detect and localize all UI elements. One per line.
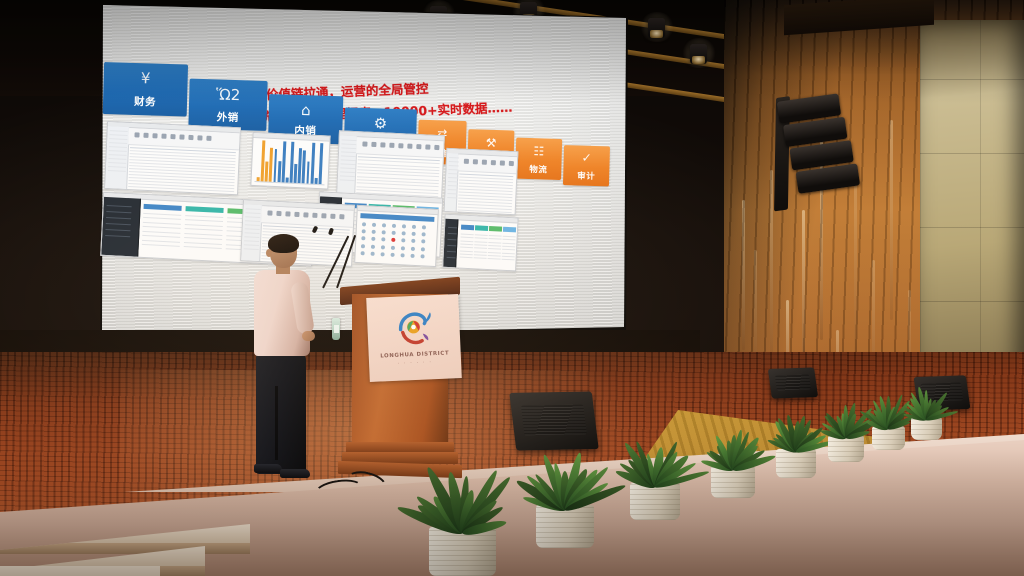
step-riser	[0, 543, 250, 554]
potted-plant-6	[828, 390, 864, 462]
conference-hall-photo: 全价值链拉通，运营的全局管控 5大业务系统、100+管理报表、10000+实时数…	[0, 0, 1024, 576]
leg-separation	[275, 386, 278, 460]
presenter-trousers	[256, 352, 306, 474]
presenter-hand	[302, 331, 315, 341]
potted-plant-7	[872, 384, 905, 450]
potted-plant-5	[776, 399, 816, 478]
potted-plant-2	[536, 432, 594, 548]
plant-pot	[776, 449, 816, 478]
logo-wordmark: LONGHUA DISTRICT	[369, 350, 461, 360]
slide-screenshot-right-dash	[442, 214, 518, 272]
step	[0, 566, 160, 576]
slide-screenshot-right-grid	[444, 148, 519, 215]
organization-logo	[393, 308, 435, 348]
wall-light-slot	[802, 210, 805, 370]
slide-tile-label: 物流	[515, 162, 561, 175]
spotlight-fixture	[690, 44, 707, 64]
truck-icon: ☷	[516, 144, 562, 157]
plant-pot	[828, 435, 864, 462]
wall-light-slot	[742, 200, 745, 350]
step	[0, 524, 250, 554]
slide-tile-label: 外销	[188, 108, 266, 125]
potted-plant-1	[429, 443, 496, 576]
slide-tile-8: ✓审计	[563, 145, 610, 186]
presenter-ear	[266, 249, 272, 257]
plant-pot	[429, 527, 496, 576]
gear-icon: ⚙	[344, 115, 416, 132]
presenter	[250, 236, 346, 480]
shop-icon: ⌂	[269, 102, 343, 119]
slide-tile-label: 财务	[103, 93, 187, 111]
plant-pot	[536, 505, 594, 548]
shoe	[254, 464, 282, 473]
water-bottle	[332, 318, 340, 340]
spotlight-fixture	[648, 18, 665, 38]
check-icon: ✓	[564, 151, 610, 164]
potted-plant-3	[630, 420, 680, 520]
line-array-speaker	[777, 91, 870, 211]
podium-front-panel: LONGHUA DISTRICT · · · · · ·	[366, 294, 462, 382]
podium-body: LONGHUA DISTRICT · · · · · ·	[352, 294, 448, 446]
wall-light-slot	[854, 180, 857, 355]
slide-tile-7: ☷物流	[515, 138, 562, 180]
slide-tile-2: Ὥ2外销	[188, 79, 267, 131]
plant-pot	[630, 483, 680, 520]
cart-icon: Ὥ2	[189, 87, 267, 104]
wall-light-slot	[770, 170, 773, 360]
logo-subtext: · · · · · ·	[369, 359, 461, 368]
slide-screenshot-calendar-panel	[354, 205, 439, 267]
slide-tile-1: ¥财务	[103, 62, 188, 117]
shoe	[280, 469, 310, 478]
slide-screenshot-bar-chart-panel	[250, 132, 330, 190]
presenter-hair	[268, 234, 299, 253]
stage-monitor-2	[768, 367, 818, 398]
potted-plant-4	[711, 411, 755, 498]
slide-tile-label: 审计	[563, 169, 609, 182]
slide-screenshot-spreadsheet-report	[104, 121, 241, 195]
tools-icon: ⚒	[468, 136, 514, 149]
wall-light-slot	[890, 120, 893, 320]
money-icon: ¥	[103, 70, 187, 88]
potted-plant-8	[911, 378, 942, 440]
